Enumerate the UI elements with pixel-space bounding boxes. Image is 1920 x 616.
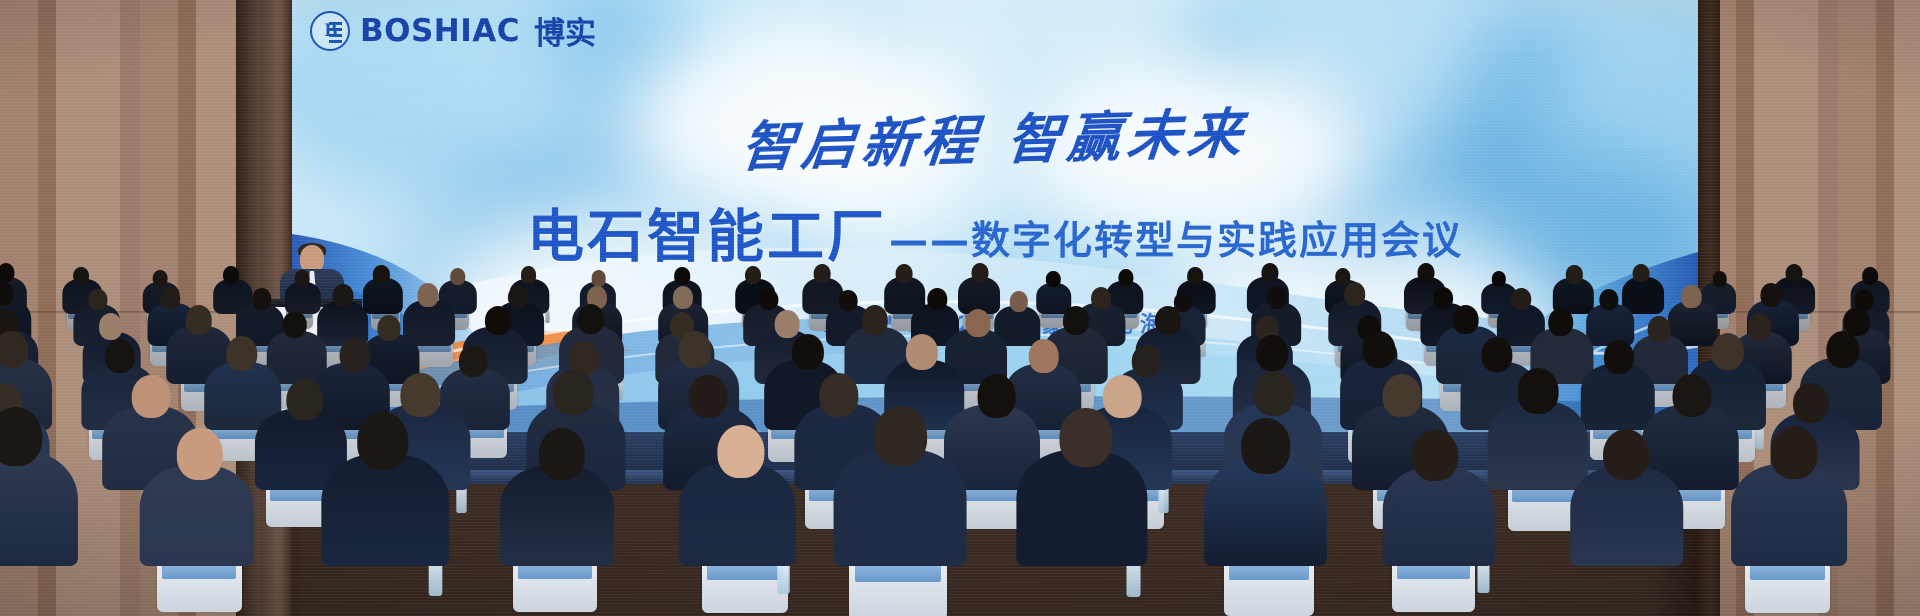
audience-head — [373, 265, 389, 283]
boshiac-logo: B BOSHIAC 博实 — [310, 8, 596, 53]
audience-head — [1548, 308, 1574, 337]
audience-head — [0, 331, 28, 368]
audience-head — [252, 288, 271, 310]
audience-torso — [363, 278, 403, 314]
audience-head — [1063, 306, 1089, 335]
banner-title-main: 电石智能工厂 — [527, 191, 887, 273]
audience-head — [928, 288, 947, 310]
audience-head — [223, 266, 239, 284]
audience-member — [0, 407, 78, 567]
audience-member — [834, 406, 967, 566]
audience-torso — [679, 463, 796, 566]
audience-head — [1603, 340, 1633, 374]
audience-torso — [322, 454, 449, 566]
audience-head — [1862, 267, 1878, 285]
audience-head — [295, 270, 310, 286]
audience-head — [553, 370, 593, 415]
audience-head — [1417, 263, 1434, 282]
audience-head — [176, 428, 222, 480]
audience-head — [745, 266, 761, 284]
audience-head — [1648, 316, 1671, 341]
audience-head — [1511, 288, 1531, 310]
audience-head — [1362, 331, 1395, 368]
audience-head — [99, 313, 123, 340]
audience-head — [340, 338, 371, 373]
audience-head — [1603, 429, 1649, 480]
boshiac-circle-logo-icon: B — [310, 11, 350, 51]
audience-head — [226, 336, 257, 371]
audience-head — [1119, 269, 1134, 286]
audience-head — [1672, 374, 1711, 418]
audience-torso — [0, 450, 78, 566]
audience-head — [185, 305, 212, 335]
audience-head — [357, 412, 409, 470]
audience-torso — [1016, 450, 1147, 566]
conference-hall-photo: B BOSHIAC 博实 智启新程 智赢未来 电石智能工厂 ——数字化转型与实践… — [0, 0, 1920, 616]
audience-head — [1452, 305, 1479, 335]
audience-head — [73, 267, 89, 285]
audience-head — [1028, 339, 1059, 373]
audience-head — [1771, 426, 1818, 478]
audience-head — [718, 425, 765, 478]
audience-head — [1413, 430, 1459, 481]
audience-head — [814, 264, 831, 283]
audience-member — [500, 428, 614, 566]
audience-head — [896, 264, 913, 283]
audience-head — [485, 306, 511, 335]
audience-torso — [500, 465, 614, 566]
audience-head — [577, 304, 604, 334]
audience-head — [88, 289, 107, 310]
audience-head — [1681, 285, 1702, 308]
audience-head — [401, 373, 440, 417]
audience-head — [1132, 345, 1160, 377]
audience-head — [792, 334, 824, 370]
audience-head — [1491, 271, 1505, 287]
audience-member — [322, 412, 449, 566]
audience-head — [333, 284, 354, 307]
audience-head — [1785, 264, 1802, 283]
audience-head — [1761, 283, 1782, 307]
audience-head — [1712, 333, 1744, 369]
audience-head — [1046, 271, 1060, 287]
audience-head — [591, 270, 606, 286]
audience-head — [689, 375, 728, 418]
audience-head — [286, 379, 323, 421]
audience-head — [874, 406, 928, 466]
audience-head — [862, 305, 888, 334]
audience-torso — [1204, 458, 1326, 566]
audience-head — [1826, 331, 1859, 368]
audience-torso — [1383, 467, 1495, 566]
audience-head — [521, 266, 537, 284]
audience-head — [417, 283, 438, 306]
audience-head — [1481, 337, 1512, 372]
audience-head — [132, 375, 171, 418]
audience-member — [1570, 429, 1684, 566]
audience-head — [971, 263, 988, 282]
audience-head — [1267, 286, 1287, 308]
audience-torso — [139, 465, 254, 566]
audience-head — [966, 309, 991, 337]
audience-head — [1010, 291, 1028, 312]
audience-torso — [834, 449, 967, 566]
audience-head — [905, 334, 937, 370]
audience-head — [1517, 368, 1558, 414]
audience-torso — [1731, 464, 1847, 566]
audience-member — [1383, 430, 1495, 566]
audience-head — [1261, 263, 1278, 282]
banner-title-row: 电石智能工厂 ——数字化转型与实践应用会议 — [292, 191, 1698, 273]
audience-head — [1241, 418, 1291, 473]
audience-head — [673, 286, 693, 308]
audience-head — [0, 263, 15, 282]
audience-member — [1731, 426, 1847, 566]
logo-wordmark: BOSHIAC — [360, 13, 520, 49]
audience-head — [679, 331, 712, 368]
audience-head — [1154, 306, 1180, 335]
audience-head — [1566, 265, 1582, 283]
audience-head — [1633, 264, 1650, 283]
audience-head — [105, 339, 135, 373]
audience-head — [1187, 267, 1203, 284]
audience-head — [0, 407, 43, 467]
logo-wordmark-cn: 博实 — [534, 8, 596, 53]
audience-head — [977, 374, 1016, 417]
audience-head — [539, 428, 585, 480]
audience-head — [1254, 371, 1294, 416]
audience-head — [153, 270, 168, 287]
audience-head — [1256, 335, 1288, 370]
audience-head — [282, 311, 306, 338]
audience-torso — [1570, 466, 1684, 566]
audience-member — [1204, 418, 1326, 566]
banner-title-sub: ——数字化转型与实践应用会议 — [889, 210, 1463, 266]
audience-member — [139, 428, 254, 566]
audience-member — [1016, 408, 1147, 566]
audience-head — [675, 267, 691, 284]
audience-head — [1793, 383, 1829, 423]
audience-head — [1344, 282, 1366, 306]
audience-head — [1599, 289, 1618, 311]
audience-area — [0, 316, 1920, 616]
audience-head — [1060, 408, 1113, 467]
audience-member — [679, 425, 796, 566]
audience-head — [1382, 374, 1421, 417]
audience-member — [363, 265, 403, 314]
audience-head — [759, 289, 778, 311]
logo-bars-icon — [329, 22, 342, 43]
